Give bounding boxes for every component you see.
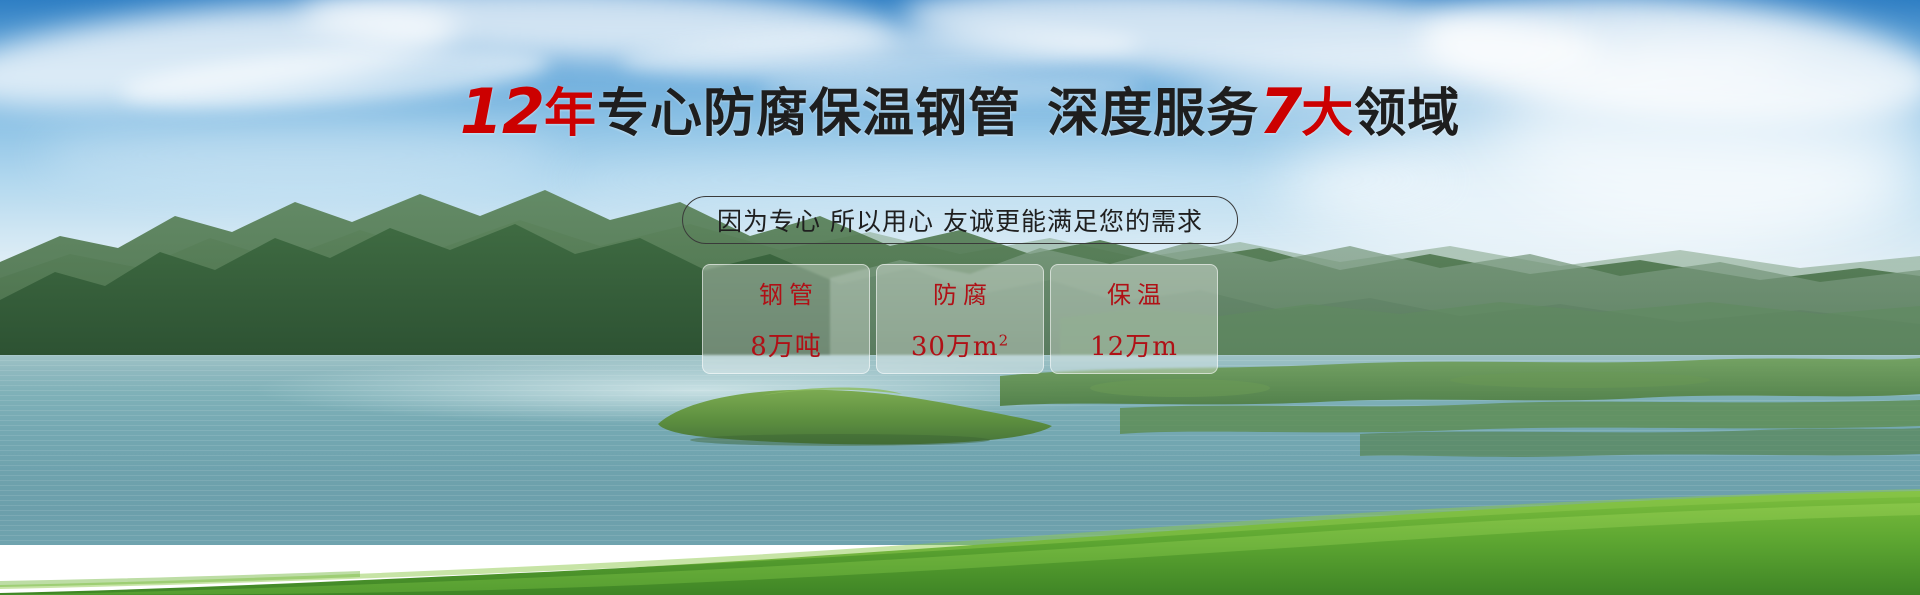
subtitle-text: 因为专心 所以用心 友诚更能满足您的需求 xyxy=(717,202,1203,238)
headline-segment-2: 深度服务 xyxy=(1047,84,1259,144)
headline-domains-number: 7 xyxy=(1259,75,1301,148)
stat-card-value: 8万吨 xyxy=(750,326,822,363)
subtitle-pill: 因为专心 所以用心 友诚更能满足您的需求 xyxy=(682,196,1238,244)
banner-headline: 12年专心防腐保温钢管深度服务7大领域 xyxy=(0,82,1920,144)
headline-segment-1: 专心防腐保温钢管 xyxy=(597,84,1021,144)
stat-card-title: 保温 xyxy=(1101,275,1167,310)
stat-card-value: 30万m2 xyxy=(911,326,1009,363)
headline-segment-3: 领域 xyxy=(1354,84,1460,144)
stat-card-value-text: 8万吨 xyxy=(750,332,822,362)
stat-card-anticorrosion[interactable]: 防腐 30万m2 xyxy=(876,264,1044,374)
headline-years-unit: 年 xyxy=(544,84,597,144)
stat-card-value-superscript: 2 xyxy=(999,331,1010,349)
stat-card-group: 钢管 8万吨 防腐 30万m2 保温 12万m xyxy=(702,264,1218,374)
grass-island xyxy=(640,380,1060,450)
stat-card-insulation[interactable]: 保温 12万m xyxy=(1050,264,1218,374)
stat-card-steel-pipe[interactable]: 钢管 8万吨 xyxy=(702,264,870,374)
stat-card-value-text: 30万m xyxy=(911,332,999,362)
stat-card-title: 防腐 xyxy=(927,275,993,310)
headline-years-number: 12 xyxy=(460,75,544,148)
stat-card-value-text: 12万m xyxy=(1090,332,1178,362)
hero-banner: 12年专心防腐保温钢管深度服务7大领域 因为专心 所以用心 友诚更能满足您的需求… xyxy=(0,0,1920,595)
headline-domains-unit: 大 xyxy=(1301,84,1354,144)
stat-card-title: 钢管 xyxy=(753,275,819,310)
grass-foreground xyxy=(0,485,1920,595)
stat-card-value: 12万m xyxy=(1090,326,1178,363)
